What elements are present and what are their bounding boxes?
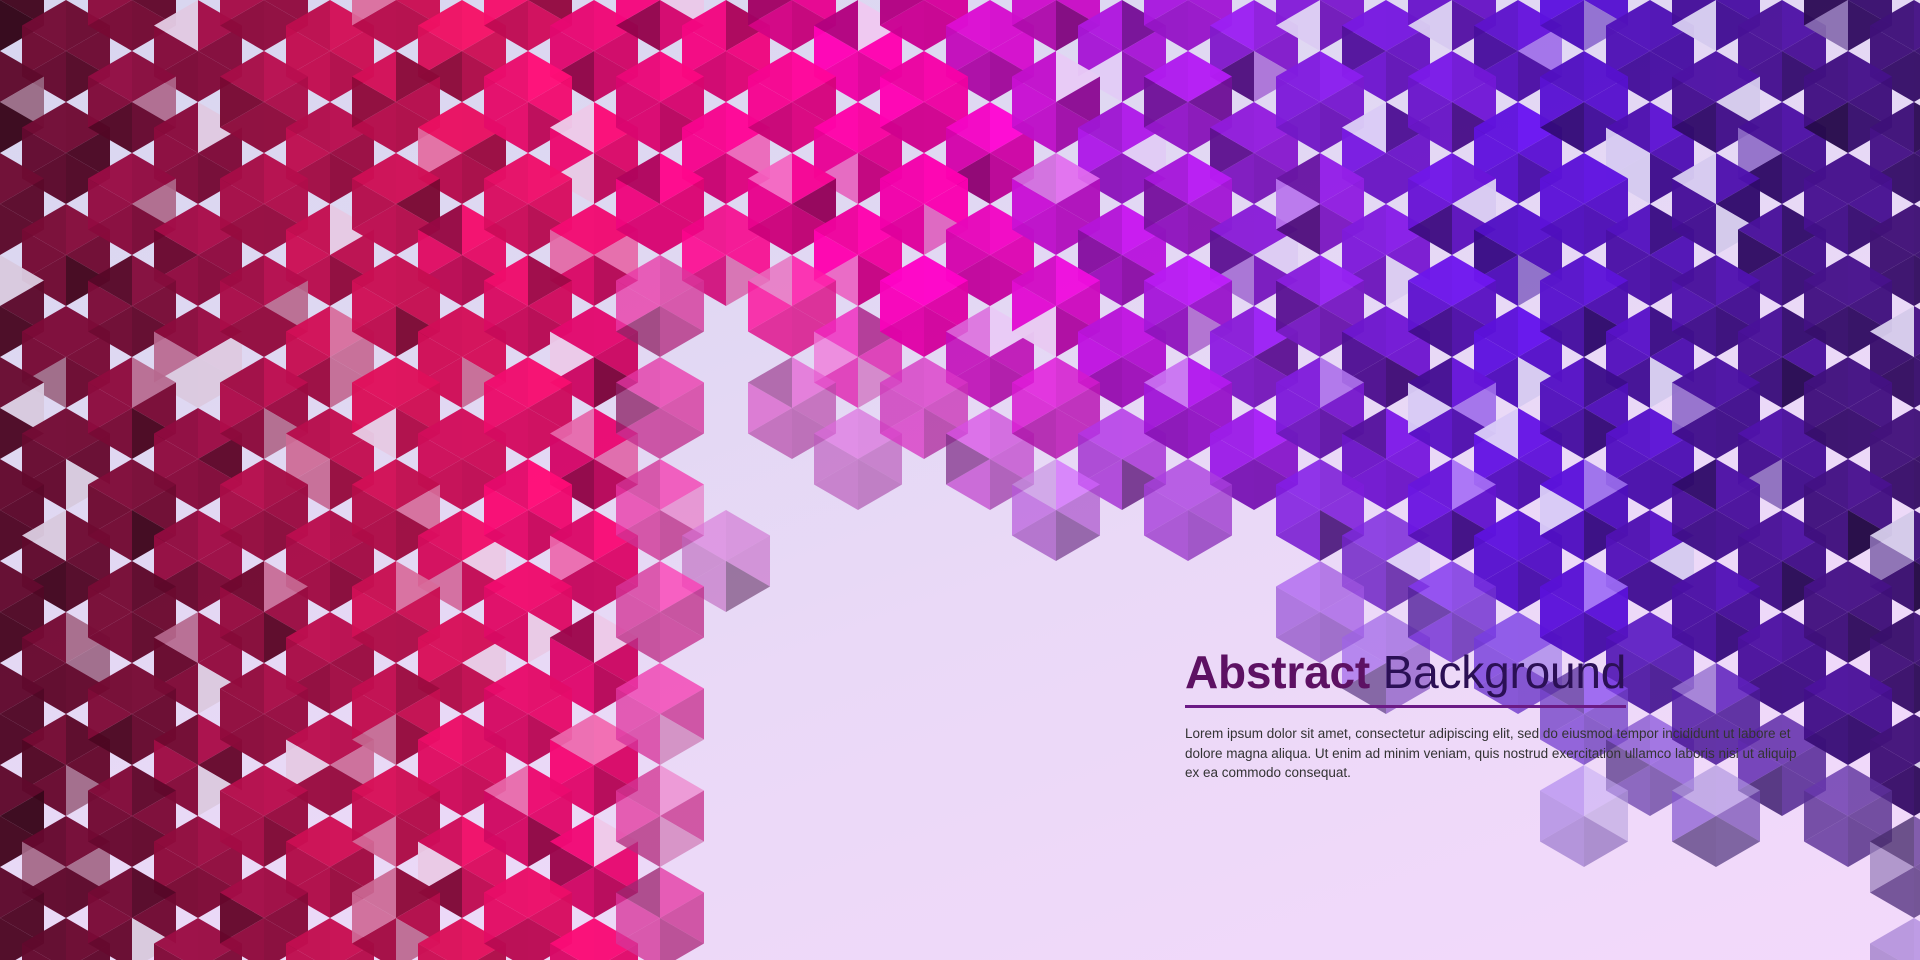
hexagon-facet — [1914, 408, 1920, 459]
page-title-strong: Abstract — [1185, 646, 1370, 698]
hexagon-facet — [1914, 561, 1920, 612]
hexagon-facet — [1914, 867, 1920, 918]
page-title: Abstract Background — [1185, 648, 1626, 708]
body-paragraph: Lorem ipsum dolor sit amet, consectetur … — [1185, 724, 1805, 783]
hexagon-facet — [1914, 357, 1920, 408]
page-title-light-word: Background — [1383, 646, 1627, 698]
hexagon-facet — [1914, 765, 1920, 816]
hexagon-facet — [1914, 204, 1920, 255]
hexagon-facet — [1914, 612, 1920, 663]
hexagon-facet — [1914, 0, 1920, 51]
hexagon-facet — [1914, 459, 1920, 510]
hexagon-facet — [1914, 663, 1920, 714]
page-title-light — [1370, 646, 1383, 698]
hexagon-facet — [1914, 510, 1920, 561]
hexagon-facet — [1914, 714, 1920, 765]
hexagon-mosaic — [0, 0, 1920, 960]
hexagon-facet — [1914, 918, 1920, 960]
hexagon-tile — [1870, 918, 1920, 960]
hexagon-facet — [1914, 153, 1920, 204]
abstract-background-banner: Abstract Background Lorem ipsum dolor si… — [0, 0, 1920, 960]
hexagon-facet — [1914, 816, 1920, 867]
hexagon-facet — [1914, 306, 1920, 357]
hexagon-facet — [1914, 51, 1920, 102]
hexagon-facet — [1914, 255, 1920, 306]
hexagon-facet — [1914, 102, 1920, 153]
text-block: Abstract Background Lorem ipsum dolor si… — [1185, 648, 1825, 783]
